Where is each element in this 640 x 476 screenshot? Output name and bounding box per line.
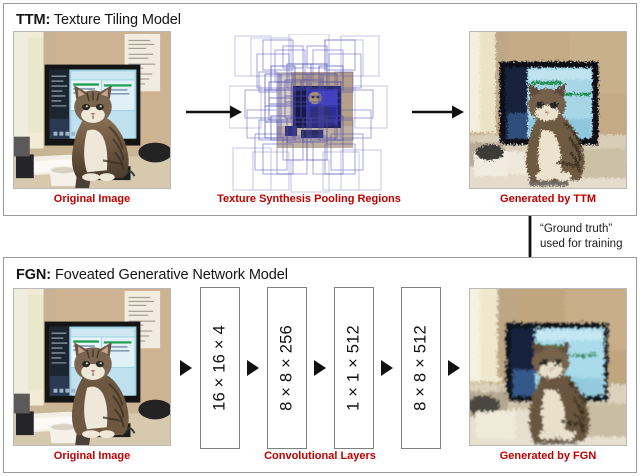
photo-cat-on-desk-fgn-synthesized	[470, 289, 626, 445]
ttm-pooling-regions	[229, 34, 389, 194]
conv-layer-box-3: 1 × 1 × 512	[334, 287, 374, 449]
ground-truth-line-1: “Ground truth”	[540, 222, 622, 237]
right-arrow-icon	[412, 103, 464, 121]
fgn-triangle-4	[381, 360, 393, 376]
ground-truth-line-2: used for training	[540, 237, 622, 252]
fgn-title-rest: Foveated Generative Network Model	[51, 267, 288, 283]
fgn-panel: FGN: Foveated Generative Network Model	[3, 257, 637, 473]
fgn-panel-title: FGN: Foveated Generative Network Model	[16, 267, 288, 283]
ttm-generated-caption: Generated by TTM	[469, 193, 627, 205]
conv-layer-label-1: 16 × 16 × 4	[211, 325, 230, 411]
fgn-conv-caption: Convolutional Layers	[260, 450, 380, 462]
conv-layer-box-4: 8 × 8 × 512	[401, 287, 441, 449]
photo-cat-on-desk-original	[14, 32, 170, 188]
fgn-triangle-3	[314, 360, 326, 376]
ttm-title-rest: Texture Tiling Model	[50, 12, 181, 28]
ttm-abbr: TTM:	[16, 12, 50, 28]
conv-layer-box-2: 8 × 8 × 256	[267, 287, 307, 449]
fgn-triangle-5	[448, 360, 460, 376]
ttm-arrow-2	[412, 103, 464, 121]
pooling-regions-overlay-on-photo	[229, 34, 389, 194]
fgn-original-caption: Original Image	[13, 450, 171, 462]
fgn-triangle-1	[180, 360, 192, 376]
photo-cat-on-desk-ttm-synthesized	[470, 32, 626, 188]
fgn-original-photo	[13, 288, 171, 446]
conv-layer-box-1: 16 × 16 × 4	[200, 287, 240, 449]
fgn-triangle-2	[247, 360, 259, 376]
fgn-generated-photo	[469, 288, 627, 446]
conv-layer-label-4: 8 × 8 × 512	[412, 325, 431, 411]
ttm-panel-title: TTM: Texture Tiling Model	[16, 12, 181, 28]
fgn-generated-caption: Generated by FGN	[469, 450, 627, 462]
conv-layer-label-3: 1 × 1 × 512	[345, 325, 364, 411]
ground-truth-label: “Ground truth” used for training	[540, 222, 622, 252]
ttm-panel: TTM: Texture Tiling Model	[3, 3, 637, 216]
ttm-generated-photo	[469, 31, 627, 189]
conv-layer-label-2: 8 × 8 × 256	[278, 325, 297, 411]
ttm-original-caption: Original Image	[13, 193, 171, 205]
photo-cat-on-desk-original	[14, 289, 170, 445]
ttm-original-photo	[13, 31, 171, 189]
ttm-pooling-caption: Texture Synthesis Pooling Regions	[209, 193, 409, 205]
fgn-abbr: FGN:	[16, 267, 51, 283]
figure-root: TTM: Texture Tiling Model	[0, 0, 640, 476]
